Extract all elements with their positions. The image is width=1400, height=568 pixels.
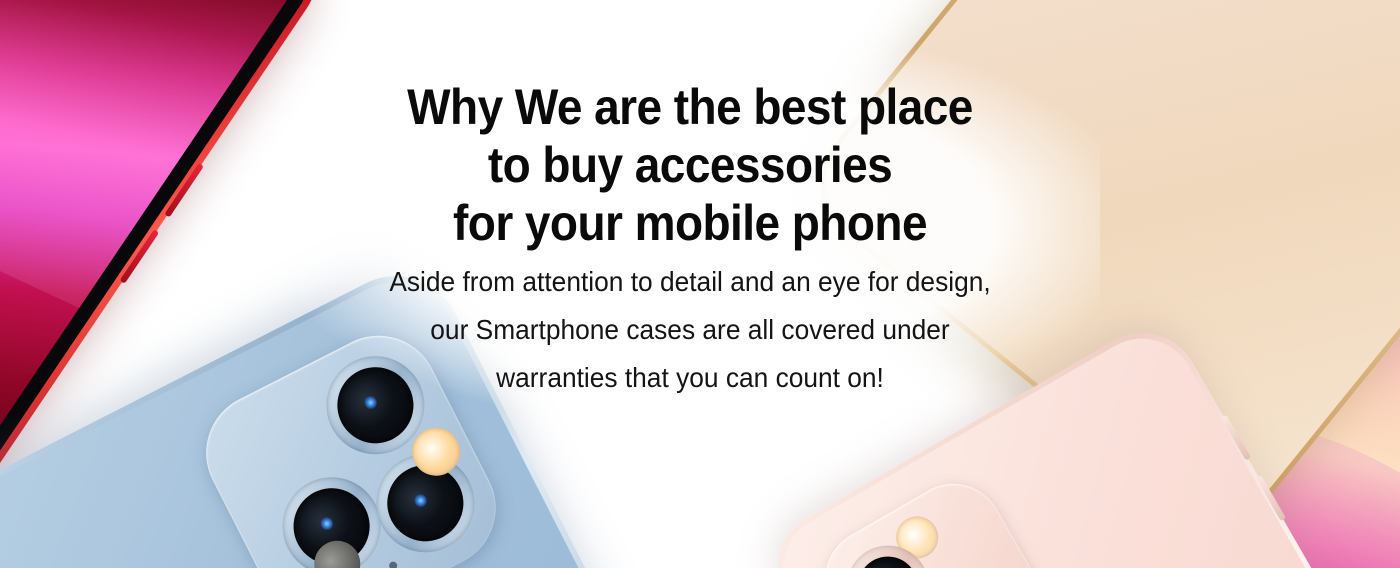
headline-line-1: Why We are the best place xyxy=(377,78,1003,136)
subcopy-line-1: Aside from attention to detail and an ey… xyxy=(370,264,1009,300)
subcopy-line-2: our Smartphone cases are all covered und… xyxy=(370,312,1009,348)
promo-banner: Why We are the best place to buy accesso… xyxy=(0,0,1400,568)
headline-line-2: to buy accessories xyxy=(377,136,1003,194)
banner-copy: Why We are the best place to buy accesso… xyxy=(350,78,1030,396)
camera-island xyxy=(1120,0,1400,2)
camera-lens-ultrawide xyxy=(928,554,1040,568)
microphone-icon xyxy=(388,560,399,568)
headline-line-3: for your mobile phone xyxy=(377,194,1003,252)
subcopy-line-3: warranties that you can count on! xyxy=(370,360,1009,396)
camera-island xyxy=(807,466,1067,568)
